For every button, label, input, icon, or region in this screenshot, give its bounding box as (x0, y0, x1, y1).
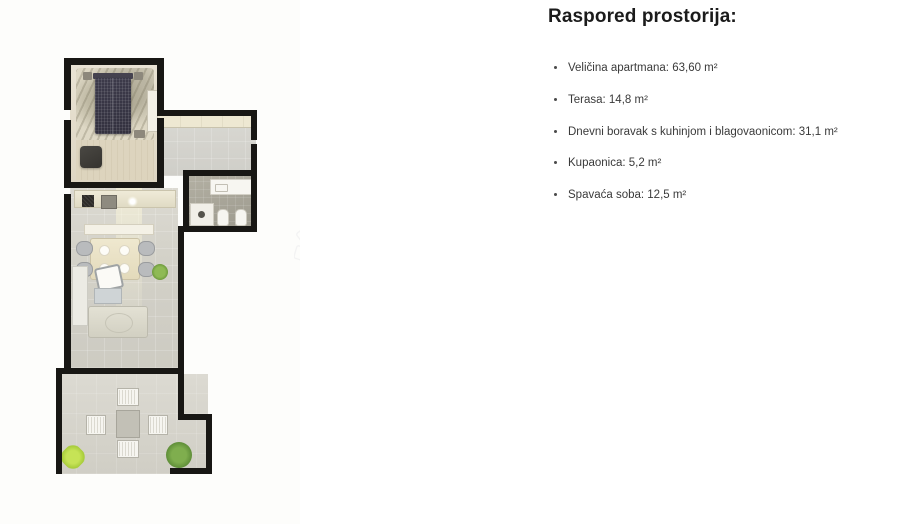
wall-top (64, 58, 164, 65)
wall-bedroom-right-low (157, 118, 164, 183)
bed (95, 78, 131, 134)
wall-bedroom-right (157, 58, 164, 116)
room-hall (160, 116, 256, 176)
room-terrace (56, 374, 208, 474)
list-item: Terasa: 14,8 m² (548, 94, 920, 108)
wall-hall-right-a (251, 110, 257, 140)
outdoor-chair (86, 415, 106, 435)
wall-living-right (178, 226, 184, 376)
wall-terrace-inner-right (178, 368, 184, 420)
wall-terrace-right (206, 414, 212, 474)
sideboard (72, 266, 88, 326)
floorplan-stage (52, 58, 262, 478)
plate (99, 245, 110, 256)
room-layout-panel: Raspored prostorija: Veličina apartmana:… (548, 0, 920, 221)
wall-bath-right (251, 170, 257, 232)
room-bedroom (70, 64, 160, 182)
kitchen-counter (74, 190, 176, 208)
list-item: Dnevni boravak s kuhinjom i blagovaonico… (548, 126, 920, 140)
room-bathroom (187, 176, 255, 230)
room-living-kitchen-dining (70, 188, 178, 368)
shrub-dark (166, 442, 192, 468)
wall-left-upper (64, 58, 71, 110)
hob (82, 195, 94, 207)
watermark: Dogma nekretnine (288, 212, 300, 288)
floorplan-image[interactable]: Dogma nekretnine (0, 0, 300, 524)
page-root: Dogma nekretnine Raspored prostorija: Ve… (0, 0, 920, 524)
bathroom-vanity (210, 179, 252, 195)
entry-cabinets (160, 116, 256, 128)
nightstand-left (83, 72, 92, 80)
wall-left-lower (64, 194, 71, 374)
wall-jog (178, 226, 188, 232)
dining-chair (76, 241, 93, 256)
shower (190, 203, 214, 226)
kitchen-island (84, 224, 154, 235)
wall-bath-bottom (183, 226, 257, 232)
room-list: Veličina apartmana: 63,60 m² Terasa: 14,… (548, 28, 920, 203)
outdoor-table (116, 410, 140, 438)
list-item: Spavaća soba: 12,5 m² (548, 189, 920, 203)
bidet (235, 209, 247, 226)
indoor-plant (152, 264, 168, 280)
plate (119, 245, 130, 256)
nightstand-right (134, 72, 143, 80)
wall-terrace-bottom-right (170, 468, 212, 474)
wall-bath-left (183, 170, 189, 232)
outdoor-chair (117, 388, 139, 406)
page-title: Raspored prostorija: (548, 0, 920, 28)
wall-bath-top (183, 170, 257, 176)
pendant-light (127, 196, 138, 207)
outdoor-chair (148, 415, 168, 435)
wall-bedroom-bottom (70, 182, 164, 188)
wall-terrace-top (56, 368, 184, 374)
bedroom-armchair (80, 146, 102, 168)
wall-terrace-left (56, 368, 62, 474)
toilet (217, 209, 229, 226)
wall-left-mid (64, 120, 71, 188)
coffee-table (94, 288, 122, 304)
dining-chair (138, 241, 155, 256)
shrub-lime (57, 441, 88, 472)
wall-hall-top (157, 110, 257, 116)
list-item: Veličina apartmana: 63,60 m² (548, 62, 920, 76)
kitchen-sink (101, 195, 117, 209)
sofa (88, 306, 148, 338)
bench (134, 130, 145, 138)
flower-pinwheel-icon (294, 218, 300, 280)
outdoor-chair (117, 440, 139, 458)
list-item: Kupaonica: 5,2 m² (548, 157, 920, 171)
